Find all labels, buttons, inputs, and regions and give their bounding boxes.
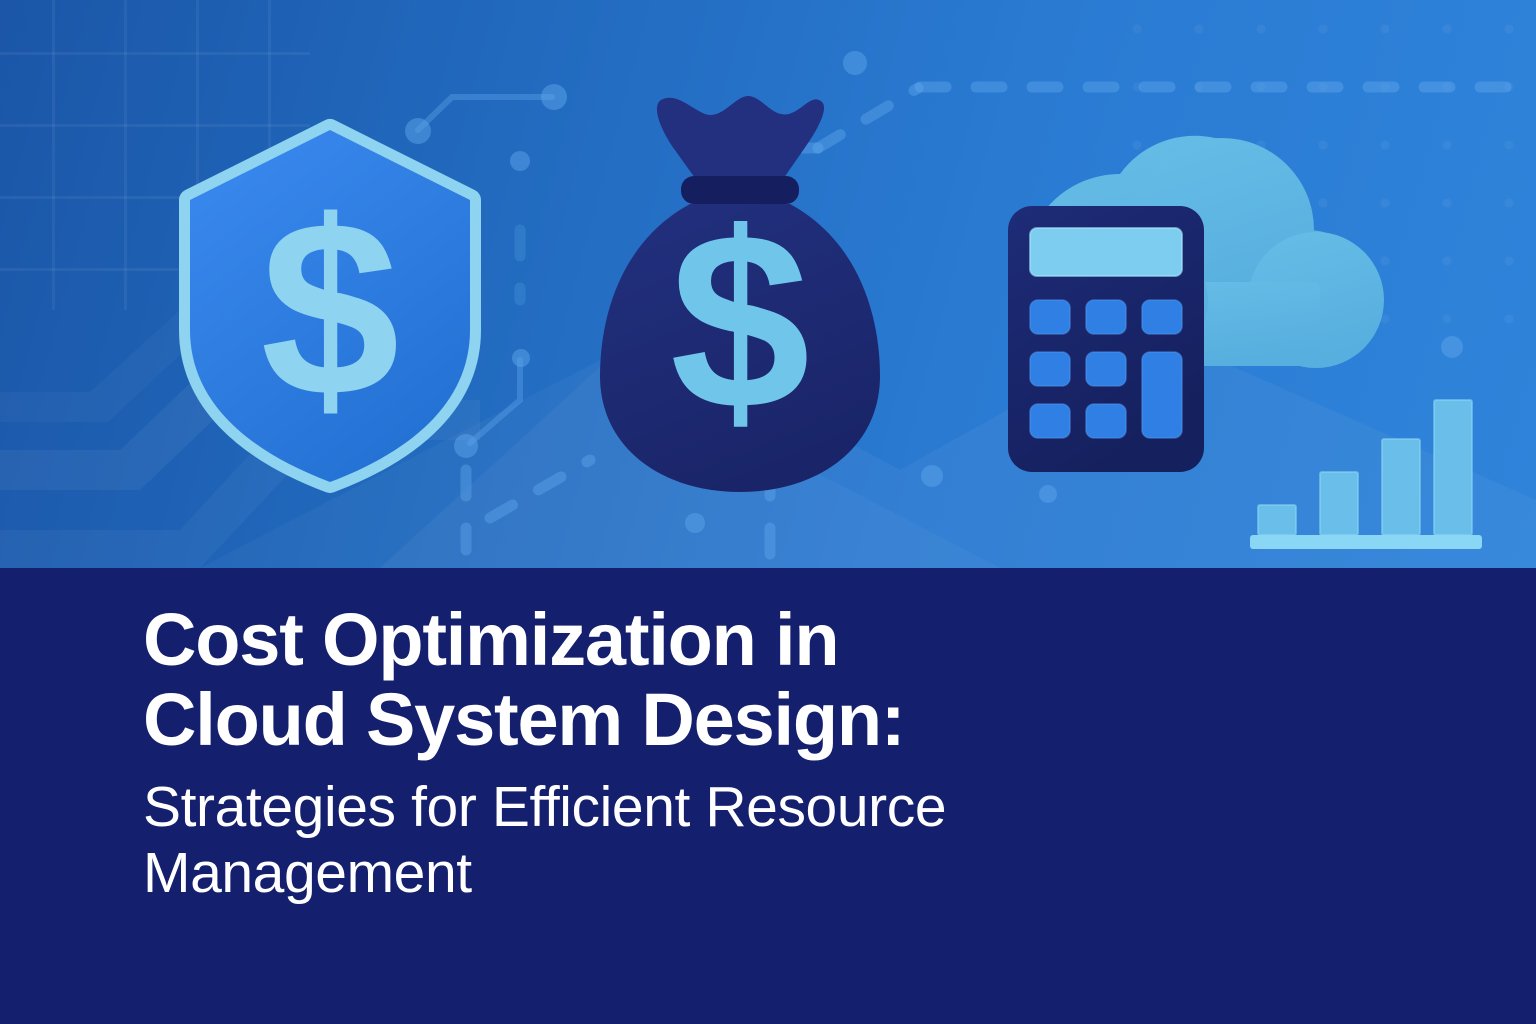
calculator-equals-button: [1142, 352, 1182, 438]
shield-dollar-glyph: $: [260, 169, 399, 448]
calculator-display: [1030, 228, 1182, 276]
page-subtitle: Strategies for Efficient Resource Manage…: [143, 774, 1323, 906]
slide-canvas: $ $: [0, 0, 1536, 1024]
money-bag-dollar-glyph: $: [670, 181, 810, 462]
hero-vector-layer: $ $: [0, 0, 1536, 568]
calculator-icon: [1008, 206, 1204, 472]
title-band: Cost Optimization in Cloud System Design…: [0, 568, 1536, 1024]
calculator-buttons: [1030, 300, 1182, 438]
hero-illustration: $ $: [0, 0, 1536, 568]
page-title: Cost Optimization in Cloud System Design…: [143, 600, 1323, 760]
shield-dollar-icon: $: [190, 130, 470, 482]
